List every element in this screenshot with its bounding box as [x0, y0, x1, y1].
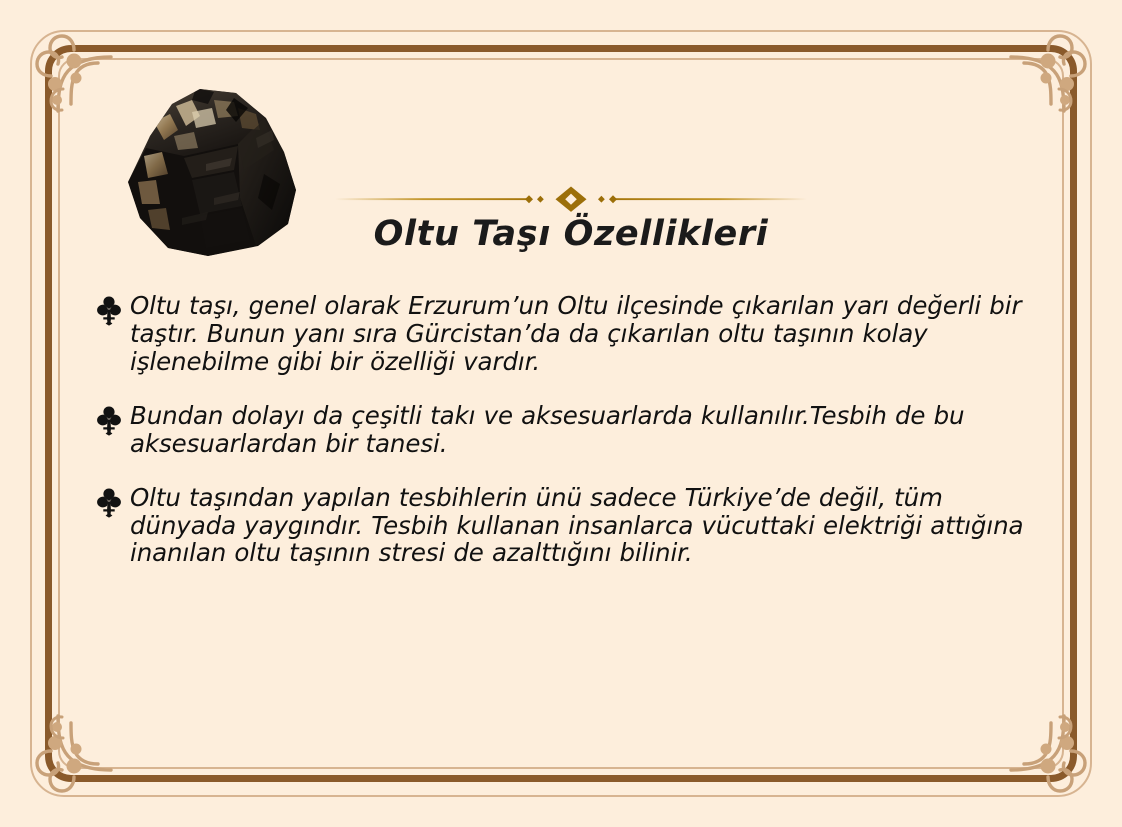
fleur-de-lis-icon [96, 402, 130, 436]
ornamental-divider [335, 186, 807, 212]
list-item-text: Oltu taşı, genel olarak Erzurum’un Oltu … [130, 292, 1056, 376]
features-list: Oltu taşı, genel olarak Erzurum’un Oltu … [96, 292, 1056, 567]
fleur-de-lis-icon [96, 484, 130, 518]
corner-ornament-bottom-right [988, 693, 1108, 813]
certificate-page: Oltu Taşı Özellikleri Oltu taşı, genel o… [0, 0, 1122, 827]
fleur-de-lis-icon [96, 292, 130, 326]
list-item: Oltu taşı, genel olarak Erzurum’un Oltu … [96, 292, 1056, 376]
oltu-stone-image [88, 78, 320, 263]
list-item-text: Oltu taşından yapılan tesbihlerin ünü sa… [130, 484, 1056, 568]
corner-ornament-top-right [988, 14, 1108, 134]
title-block: Oltu Taşı Özellikleri [335, 186, 807, 254]
list-item: Bundan dolayı da çeşitli takı ve aksesua… [96, 402, 1056, 458]
page-title: Oltu Taşı Özellikleri [335, 212, 807, 254]
corner-ornament-bottom-left [14, 693, 134, 813]
list-item-text: Bundan dolayı da çeşitli takı ve aksesua… [130, 402, 1056, 458]
list-item: Oltu taşından yapılan tesbihlerin ünü sa… [96, 484, 1056, 568]
